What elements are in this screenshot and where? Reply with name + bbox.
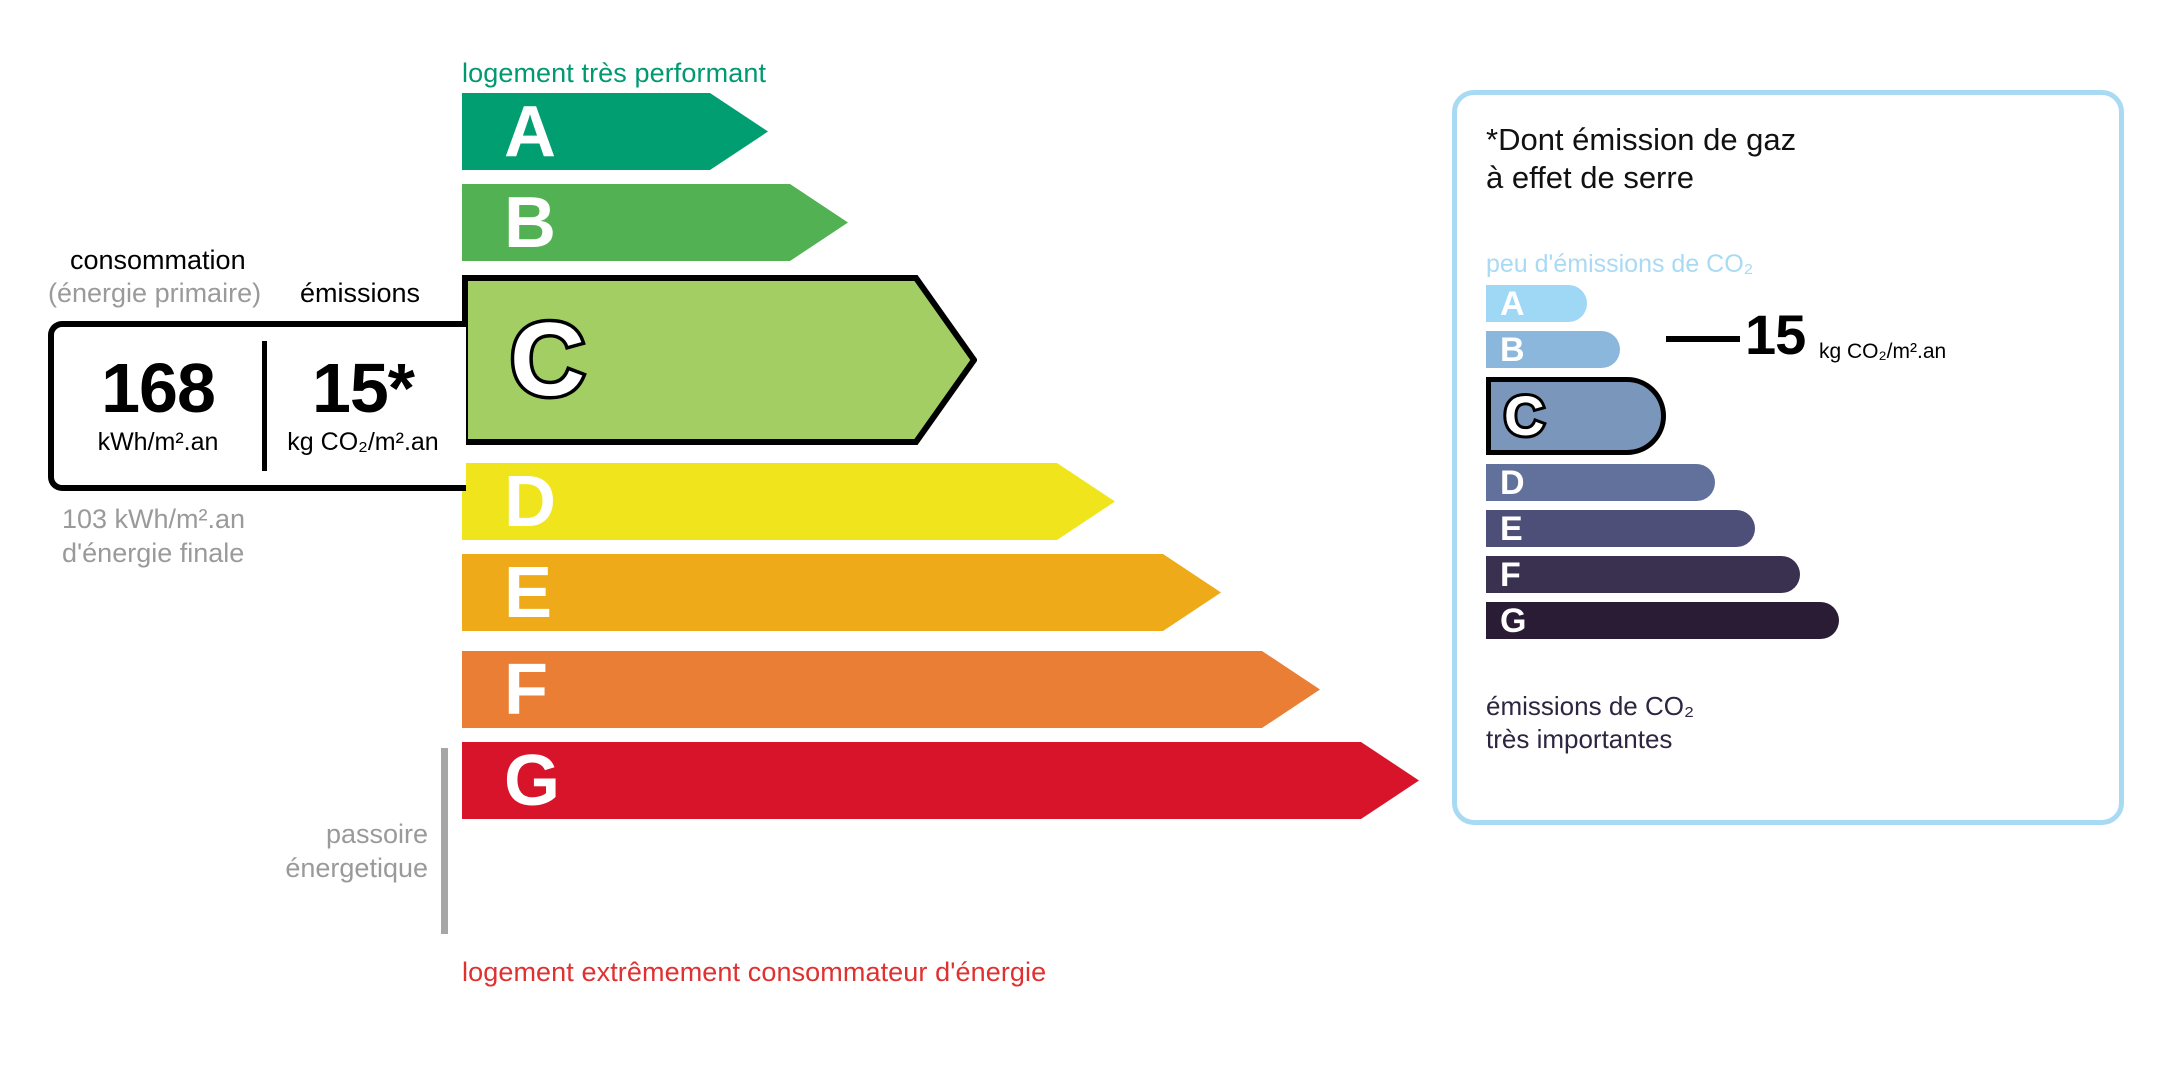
passoire-label-line2: énergetique — [285, 853, 428, 883]
co2-title-line1: *Dont émission de gaz — [1486, 122, 1796, 157]
energy-bar-g: G — [462, 742, 1419, 819]
energy-bar-c: C — [462, 275, 977, 445]
energy-caption-top: logement très performant — [462, 58, 766, 89]
energy-bar-d: D — [462, 463, 1115, 540]
energy-bar-shape-c — [462, 275, 977, 445]
co2-bar-a: A — [1486, 285, 1587, 322]
energy-bar-a: A — [462, 93, 768, 170]
passoire-bracket — [441, 748, 448, 934]
final-energy-label: d'énergie finale — [62, 538, 244, 568]
co2-caption-top: peu d'émissions de CO₂ — [1486, 250, 1753, 279]
co2-bar-letter-f: F — [1500, 558, 1521, 592]
co2-bar-e: E — [1486, 510, 1755, 547]
co2-callout-unit: kg CO₂/m².an — [1819, 340, 1946, 364]
co2-bar-letter-d: D — [1500, 466, 1525, 500]
co2-bar-f: F — [1486, 556, 1800, 593]
emissions-value-cell: 15* kg CO₂/m².an — [263, 327, 463, 485]
co2-bar-d: D — [1486, 464, 1715, 501]
consumption-value-cell: 168 kWh/m².an — [54, 327, 262, 485]
co2-caption-bottom: émissions de CO₂ très importantes — [1486, 690, 1694, 756]
energy-bar-shape-f — [462, 651, 1320, 728]
emissions-unit: kg CO₂/m².an — [287, 428, 438, 457]
energy-bar-shape-b — [462, 184, 848, 261]
energy-scale-panel: logement très performant ABCDEFG logemen… — [0, 0, 1330, 1079]
co2-caption-bottom-line2: très importantes — [1486, 724, 1672, 754]
co2-bar-g: G — [1486, 602, 1839, 639]
co2-bar-letter-g: G — [1500, 604, 1526, 638]
dpe-label: logement très performant ABCDEFG logemen… — [0, 0, 2169, 1079]
consumption-value: 168 — [101, 355, 215, 422]
co2-caption-bottom-line1: émissions de CO₂ — [1486, 691, 1694, 721]
final-energy-note: 103 kWh/m².an d'énergie finale — [62, 503, 245, 571]
co2-panel-title: *Dont émission de gaz à effet de serre — [1486, 121, 1796, 197]
consumption-unit: kWh/m².an — [98, 428, 219, 457]
final-energy-value: 103 kWh/m².an — [62, 504, 245, 534]
co2-bar-letter-c: C — [1504, 388, 1544, 444]
co2-callout-value: 15 — [1745, 307, 1805, 363]
co2-bar-shape-e — [1486, 510, 1755, 547]
energy-bar-f: F — [462, 651, 1320, 728]
co2-bar-shape-g — [1486, 602, 1839, 639]
emissions-value: 15* — [312, 355, 414, 422]
energy-bar-shape-a — [462, 93, 768, 170]
emissions-header-label: émissions — [300, 278, 420, 309]
co2-bar-b: B — [1486, 331, 1620, 368]
consumption-header-label: consommation — [70, 245, 246, 276]
passoire-label: passoire énergetique — [200, 818, 428, 886]
energy-caption-bottom: logement extrêmement consommateur d'éner… — [462, 957, 1046, 988]
co2-bar-letter-e: E — [1500, 512, 1523, 546]
value-readout-box: 168 kWh/m².an 15* kg CO₂/m².an — [48, 321, 466, 491]
consumption-subheader-label: (énergie primaire) — [48, 278, 261, 309]
energy-bar-e: E — [462, 554, 1221, 631]
co2-bar-c: C — [1486, 377, 1666, 455]
co2-callout-leader-line — [1666, 336, 1740, 342]
co2-panel: *Dont émission de gaz à effet de serre p… — [1452, 90, 2124, 825]
passoire-label-line1: passoire — [326, 819, 428, 849]
energy-bar-shape-d — [462, 463, 1115, 540]
co2-bar-letter-a: A — [1500, 287, 1525, 321]
energy-bar-shape-e — [462, 554, 1221, 631]
energy-bar-shape-g — [462, 742, 1419, 819]
co2-bar-shape-f — [1486, 556, 1800, 593]
co2-title-line2: à effet de serre — [1486, 160, 1694, 195]
energy-bar-b: B — [462, 184, 848, 261]
co2-bar-letter-b: B — [1500, 333, 1525, 367]
